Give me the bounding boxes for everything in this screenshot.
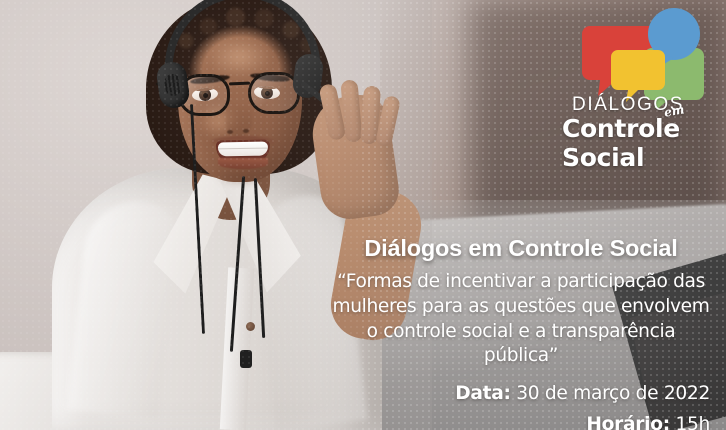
time-value: 15h bbox=[675, 414, 710, 430]
logo-word-controle-social: Controle Social bbox=[562, 114, 718, 172]
event-subtitle: “Formas de incentivar a participação das… bbox=[330, 270, 712, 369]
event-banner: DIÁLOGOS em Controle Social Diálogos em … bbox=[0, 0, 726, 430]
lower-lip bbox=[218, 158, 268, 169]
time-label: Horário: bbox=[586, 414, 669, 430]
shirt-button bbox=[246, 322, 255, 331]
event-copy-block: Diálogos em Controle Social “Formas de i… bbox=[330, 234, 712, 430]
headset-cable-clip bbox=[240, 350, 252, 368]
event-date-line: Data: 30 de março de 2022 bbox=[330, 383, 712, 404]
event-title: Diálogos em Controle Social bbox=[330, 234, 712, 262]
nostril-right bbox=[243, 129, 249, 133]
speech-bubbles-icon bbox=[556, 8, 718, 108]
logo[interactable]: DIÁLOGOS em Controle Social bbox=[556, 8, 718, 148]
event-time-line: Horário: 15h bbox=[330, 414, 712, 430]
nostril-left bbox=[227, 130, 233, 134]
date-label: Data: bbox=[455, 383, 510, 404]
date-value: 30 de março de 2022 bbox=[516, 383, 710, 404]
